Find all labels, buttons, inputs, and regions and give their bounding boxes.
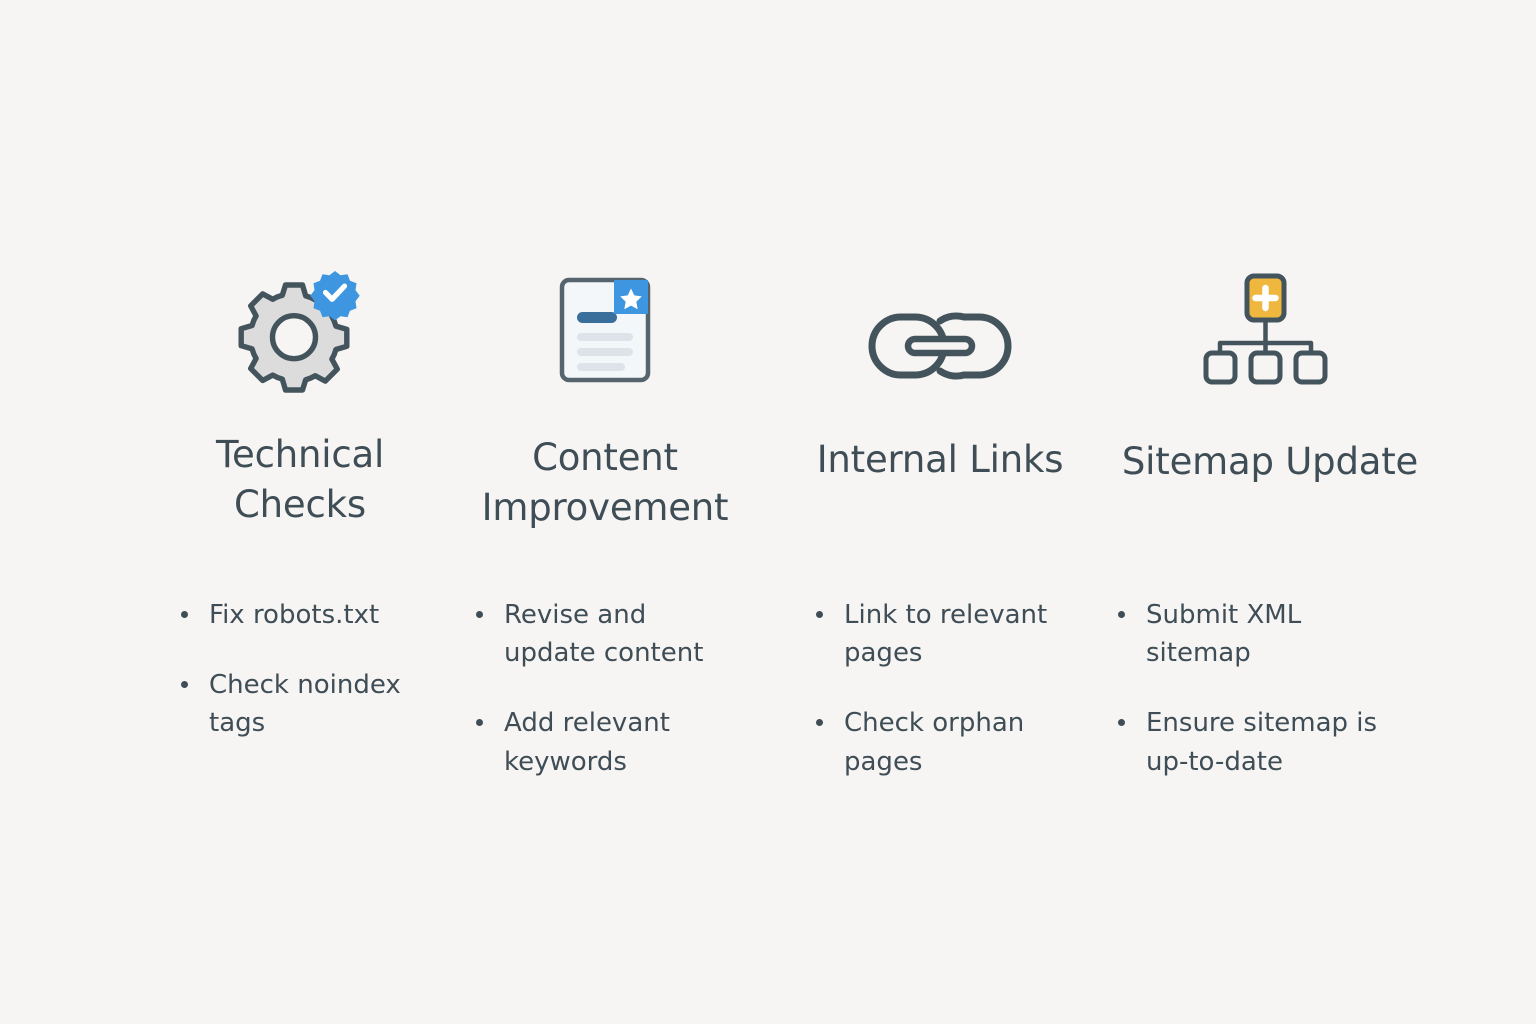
bullet-list: Fix robots.txt Check noindex tags: [175, 596, 445, 775]
document-star-icon: [455, 270, 755, 385]
list-item: Revise and update content: [470, 596, 745, 672]
sitemap-plus-icon: [1100, 265, 1430, 385]
column-content-improvement: Content Improvement Revise and update co…: [455, 0, 755, 1024]
column-technical-checks: Technical Checks Fix robots.txt Check no…: [150, 0, 450, 1024]
bullet-list: Submit XML sitemap Ensure sitemap is up-…: [1112, 596, 1412, 813]
column-sitemap-update: Sitemap Update Submit XML sitemap Ensure…: [1100, 0, 1430, 1024]
bullet-list: Link to relevant pages Check orphan page…: [810, 596, 1090, 813]
column-title: Internal Links: [790, 435, 1090, 485]
list-item: Ensure sitemap is up-to-date: [1112, 704, 1412, 780]
list-item: Check noindex tags: [175, 666, 445, 742]
gear-verified-icon: [150, 262, 450, 387]
list-item: Check orphan pages: [810, 704, 1090, 780]
column-internal-links: Internal Links Link to relevant pages Ch…: [790, 0, 1090, 1024]
column-title: Content Improvement: [455, 433, 755, 533]
list-item: Link to relevant pages: [810, 596, 1090, 672]
list-item: Submit XML sitemap: [1112, 596, 1412, 672]
bullet-list: Revise and update content Add relevant k…: [470, 596, 745, 813]
chain-link-icon: [790, 280, 1090, 385]
column-title: Sitemap Update: [1100, 437, 1440, 487]
list-item: Fix robots.txt: [175, 596, 445, 634]
infographic-board: Technical Checks Fix robots.txt Check no…: [0, 0, 1536, 1024]
list-item: Add relevant keywords: [470, 704, 745, 780]
column-title: Technical Checks: [150, 430, 450, 530]
